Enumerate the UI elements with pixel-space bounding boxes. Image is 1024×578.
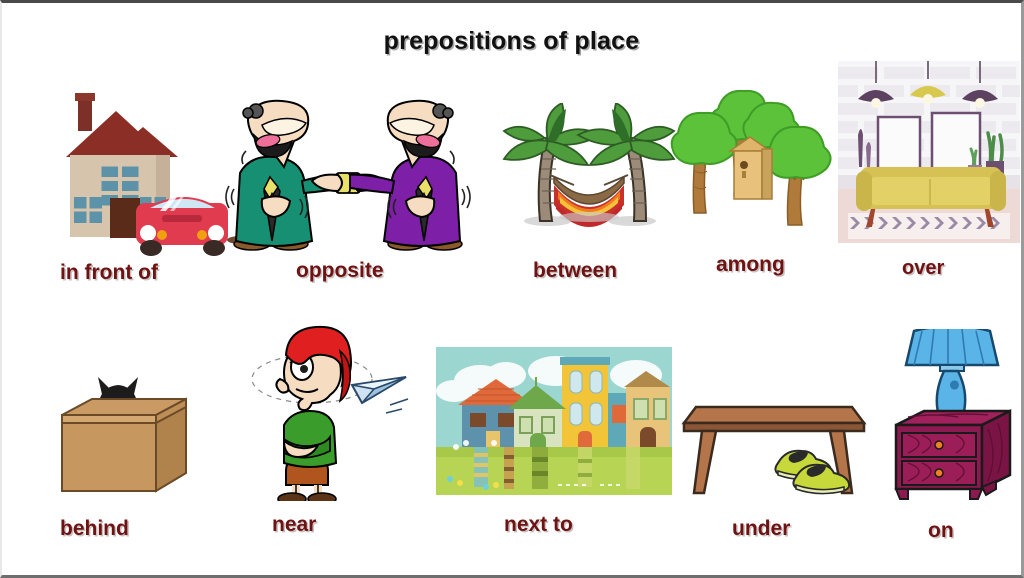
preposition-card-among[interactable]: among: [670, 85, 840, 291]
lamp-on-nightstand-illustration: [878, 329, 1024, 507]
preposition-label-under: under: [732, 517, 790, 541]
preposition-label-opposite: opposite: [296, 259, 384, 283]
preposition-card-under[interactable]: under: [674, 385, 874, 555]
birdhouse-among-trees-illustration: [670, 85, 840, 245]
hammock-between-palms-illustration: [500, 103, 678, 251]
lamps-over-sofa-illustration: [838, 61, 1020, 243]
cat-behind-box-illustration: [40, 355, 216, 505]
preposition-label-behind: behind: [60, 517, 129, 541]
prepositions-poster: prepositions of place: [0, 0, 1024, 578]
preposition-card-between[interactable]: between: [500, 103, 678, 293]
preposition-label-on: on: [928, 519, 954, 543]
houses-in-a-row-illustration: [436, 347, 672, 495]
preposition-card-over[interactable]: over: [838, 61, 1020, 291]
preposition-label-between: between: [533, 259, 617, 283]
shoes-under-table-illustration: [674, 385, 874, 505]
preposition-label-next-to: next to: [504, 513, 573, 537]
preposition-card-opposite[interactable]: opposite: [210, 81, 486, 297]
preposition-label-over: over: [902, 257, 944, 280]
preposition-label-near: near: [272, 513, 316, 537]
page-title: prepositions of place: [2, 27, 1021, 56]
preposition-card-near[interactable]: near: [240, 321, 416, 547]
preposition-card-on[interactable]: on: [878, 329, 1024, 561]
plane-near-woman-illustration: [240, 321, 416, 501]
two-men-pointing-illustration: [210, 81, 486, 257]
preposition-card-next-to[interactable]: next to: [436, 347, 672, 553]
preposition-label-among: among: [716, 253, 785, 277]
preposition-label-in-front-of: in front of: [60, 261, 158, 285]
preposition-card-behind[interactable]: behind: [40, 355, 216, 555]
